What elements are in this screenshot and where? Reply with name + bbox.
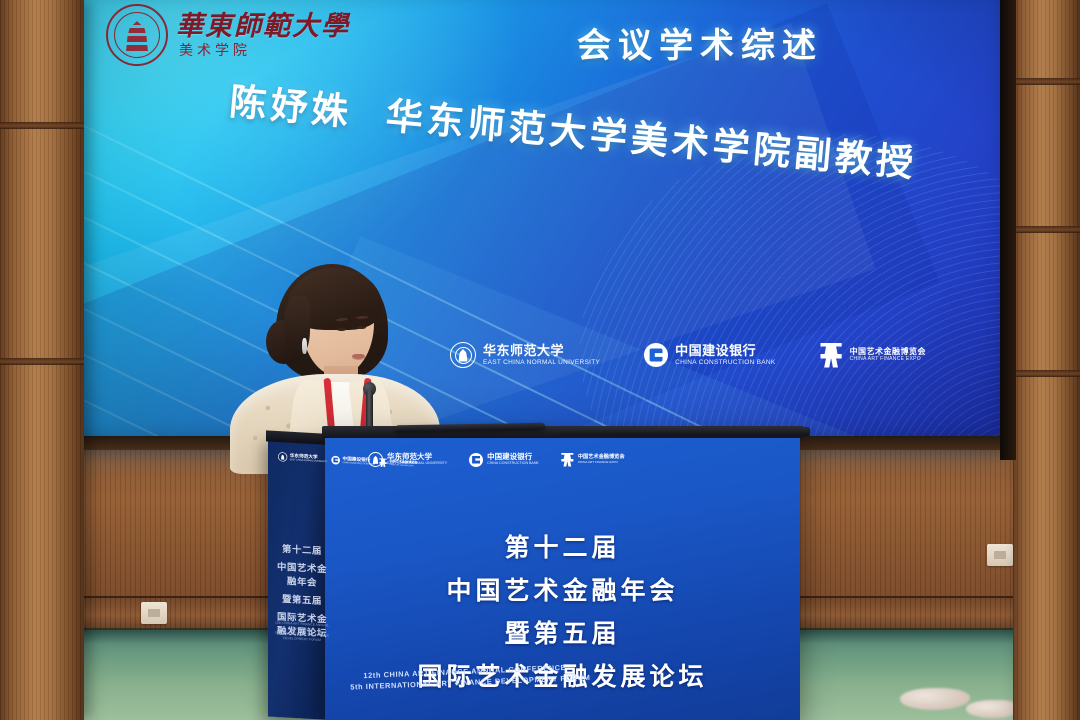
podium-title-line-1: 第十二届 bbox=[345, 528, 780, 564]
podium-logo-en: CHINA CONSTRUCTION BANK bbox=[487, 462, 539, 466]
podium-side-title-line-1: 第十二届 bbox=[276, 541, 328, 558]
podium-side-title-line-2: 中国艺术金融年会 bbox=[276, 559, 328, 590]
podium-logo-en: CHINA ART FINANCE EXPO bbox=[578, 461, 625, 464]
left-wooden-column bbox=[0, 0, 84, 720]
podium-logo-art: 中国艺术金融博览会 CHINA ART FINANCE EXPO bbox=[561, 453, 625, 467]
led-presentation-screen: 華東師範大學 美术学院 会议学术综述 陈妤姝华东师范大学美术学院副教授 华东师范… bbox=[60, 0, 1010, 444]
podium-side-title-line-3: 暨第五届 bbox=[276, 591, 328, 608]
right-column-dark-edge bbox=[1000, 0, 1016, 460]
ecnu-seal-icon bbox=[278, 452, 287, 462]
conference-photo: 華東師範大學 美术学院 会议学术综述 陈妤姝华东师范大学美术学院副教授 华东师范… bbox=[0, 0, 1080, 720]
podium-title-line-3: 暨第五届 bbox=[345, 614, 780, 650]
wall-outlet-plate bbox=[987, 544, 1013, 566]
wall-outlet-plate bbox=[141, 602, 167, 624]
podium-side-english-subtitle: 12th CHINA ART FINANCE ANNUAL CONFERENCE… bbox=[274, 620, 330, 643]
podium-logo-ccb: 中国建设银行 CHINA CONSTRUCTION BANK bbox=[469, 453, 539, 467]
art-finance-logo-icon bbox=[561, 453, 574, 467]
podium-title-line-2: 中国艺术金融年会 bbox=[345, 571, 780, 607]
ecnu-seal-icon bbox=[368, 452, 383, 467]
ccb-logo-icon bbox=[469, 453, 483, 467]
mouth bbox=[352, 354, 365, 360]
podium-logo-ecnu: 华东师范大学 EAST CHINA NORMAL UNIVERSITY bbox=[368, 452, 447, 467]
podium-desk-edge bbox=[560, 427, 810, 436]
screen-bezel bbox=[60, 0, 1010, 444]
right-wooden-column bbox=[1013, 0, 1080, 720]
earring bbox=[302, 338, 307, 354]
podium-logo-en: EAST CHINA NORMAL UNIVERSITY bbox=[387, 462, 447, 466]
ccb-logo-icon bbox=[331, 455, 340, 464]
podium-front-logo-strip: 华东师范大学 EAST CHINA NORMAL UNIVERSITY 中国建设… bbox=[368, 452, 625, 467]
